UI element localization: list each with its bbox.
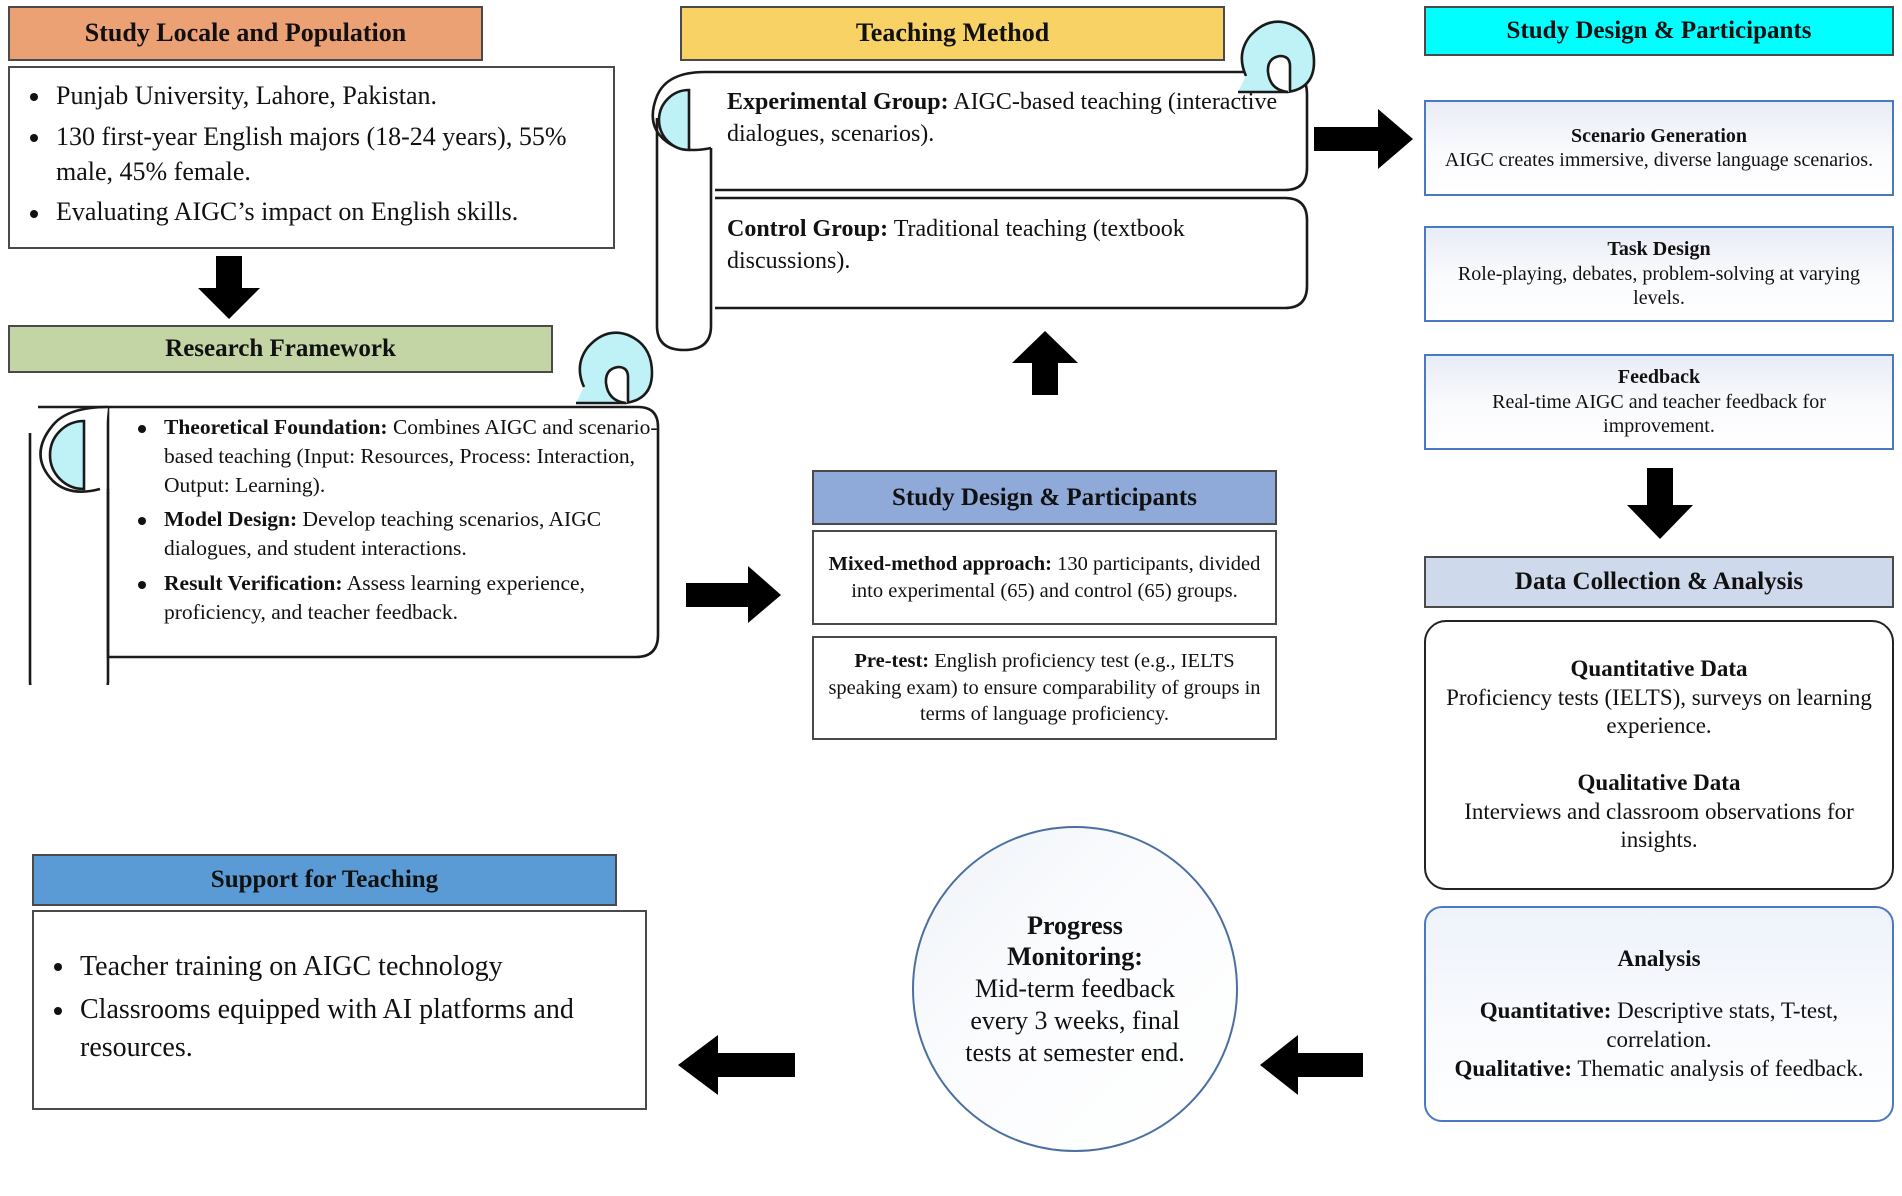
list-item: Punjab University, Lahore, Pakistan. [56, 79, 595, 114]
qualitative-data-text: Interviews and classroom observations fo… [1442, 798, 1876, 855]
list-item: Result Verification: Assess learning exp… [164, 569, 684, 627]
bullet-lead: Model Design: [164, 507, 297, 531]
analysis-qualitative-lead: Qualitative: [1455, 1056, 1573, 1081]
list-item: Evaluating AIGC’s impact on English skil… [56, 195, 595, 230]
analysis-qualitative: Qualitative: Thematic analysis of feedba… [1455, 1055, 1864, 1084]
list-item: Model Design: Develop teaching scenarios… [164, 505, 684, 563]
study-locale-body: Punjab University, Lahore, Pakistan. 130… [8, 66, 615, 249]
progress-title-line1: Progress [1027, 910, 1123, 942]
arrow-feedback-to-datacollection [1625, 468, 1695, 540]
study-design-mid-row-pretest: Pre-test: English proficiency test (e.g.… [812, 636, 1277, 740]
research-framework-list: Theoretical Foundation: Combines AIGC an… [118, 413, 702, 633]
list-item: 130 first-year English majors (18-24 yea… [56, 120, 595, 190]
support-teaching-header: Support for Teaching [32, 854, 617, 906]
analysis-quantitative: Quantitative: Descriptive stats, T-test,… [1442, 997, 1876, 1054]
data-collection-header-label: Data Collection & Analysis [1515, 568, 1803, 596]
card-text: AIGC creates immersive, diverse language… [1445, 148, 1873, 172]
data-collection-body: Quantitative Data Proficiency tests (IEL… [1424, 620, 1894, 890]
teaching-method-header: Teaching Method [680, 6, 1225, 61]
row-lead: Control Group: [727, 216, 888, 242]
analysis-quantitative-lead: Quantitative: [1480, 998, 1612, 1023]
card-scenario-generation: Scenario Generation AIGC creates immersi… [1424, 100, 1894, 196]
arrow-progress-to-support [676, 1034, 796, 1096]
quantitative-data-title: Quantitative Data [1571, 655, 1748, 684]
card-text: Real-time AIGC and teacher feedback for … [1440, 390, 1878, 439]
study-locale-header: Study Locale and Population [8, 6, 483, 61]
analysis-title: Analysis [1617, 945, 1700, 974]
list-item: Classrooms equipped with AI platforms an… [80, 991, 627, 1066]
research-framework-header-label: Research Framework [165, 335, 396, 363]
teaching-method-header-label: Teaching Method [856, 19, 1049, 48]
bullet-lead: Theoretical Foundation: [164, 415, 388, 439]
list-item: Teacher training on AIGC technology [80, 948, 627, 986]
support-teaching-list: Teacher training on AIGC technology Clas… [34, 948, 645, 1073]
arrow-framework-to-studydesign [686, 565, 782, 625]
progress-text: Mid-term feedback every 3 weeks, final t… [914, 973, 1236, 1068]
arrow-studydesign-to-teaching [1010, 330, 1080, 396]
list-item: Theoretical Foundation: Combines AIGC an… [164, 413, 684, 499]
support-teaching-body: Teacher training on AIGC technology Clas… [32, 910, 647, 1110]
support-teaching-header-label: Support for Teaching [211, 866, 438, 894]
row-lead: Pre-test: [854, 650, 929, 672]
arrow-teaching-to-scenario [1314, 108, 1414, 170]
bullet-lead: Result Verification: [164, 571, 343, 595]
teaching-method-row-experimental: Experimental Group: AIGC-based teaching … [727, 86, 1287, 150]
research-framework-header: Research Framework [8, 325, 553, 373]
study-design-right-header-label: Study Design & Participants [1507, 17, 1812, 45]
analysis-box: Analysis Quantitative: Descriptive stats… [1424, 906, 1894, 1122]
flowchart-canvas: Study Locale and Population Punjab Unive… [0, 0, 1902, 1196]
study-design-mid-header: Study Design & Participants [812, 470, 1277, 525]
card-title: Feedback [1618, 365, 1700, 389]
data-collection-header: Data Collection & Analysis [1424, 556, 1894, 608]
study-locale-list: Punjab University, Lahore, Pakistan. 130… [10, 79, 613, 236]
row-text: Mixed-method approach: 130 participants,… [828, 551, 1261, 604]
qualitative-data-title: Qualitative Data [1578, 769, 1741, 798]
study-locale-header-label: Study Locale and Population [85, 19, 406, 48]
arrow-analysis-to-progress [1258, 1034, 1364, 1096]
quantitative-data-text: Proficiency tests (IELTS), surveys on le… [1442, 684, 1876, 741]
row-lead: Mixed-method approach: [829, 553, 1052, 575]
card-text: Role-playing, debates, problem-solving a… [1440, 262, 1878, 311]
research-framework-body: Theoretical Foundation: Combines AIGC an… [8, 385, 663, 685]
study-design-right-header: Study Design & Participants [1424, 6, 1894, 56]
study-design-mid-header-label: Study Design & Participants [892, 484, 1197, 512]
progress-monitoring-circle: Progress Monitoring: Mid-term feedback e… [912, 826, 1238, 1152]
teaching-method-row-control: Control Group: Traditional teaching (tex… [727, 213, 1287, 277]
study-design-mid-row-mixed: Mixed-method approach: 130 participants,… [812, 530, 1277, 625]
card-title: Task Design [1607, 237, 1710, 261]
arrow-locale-to-framework [196, 256, 262, 320]
card-task-design: Task Design Role-playing, debates, probl… [1424, 226, 1894, 322]
card-title: Scenario Generation [1571, 124, 1747, 148]
row-text: Pre-test: English proficiency test (e.g.… [828, 648, 1261, 728]
progress-title-line2: Monitoring: [1007, 941, 1143, 973]
teaching-method-body: Experimental Group: AIGC-based teaching … [645, 58, 1325, 398]
card-feedback: Feedback Real-time AIGC and teacher feed… [1424, 354, 1894, 450]
row-lead: Experimental Group: [727, 89, 949, 115]
